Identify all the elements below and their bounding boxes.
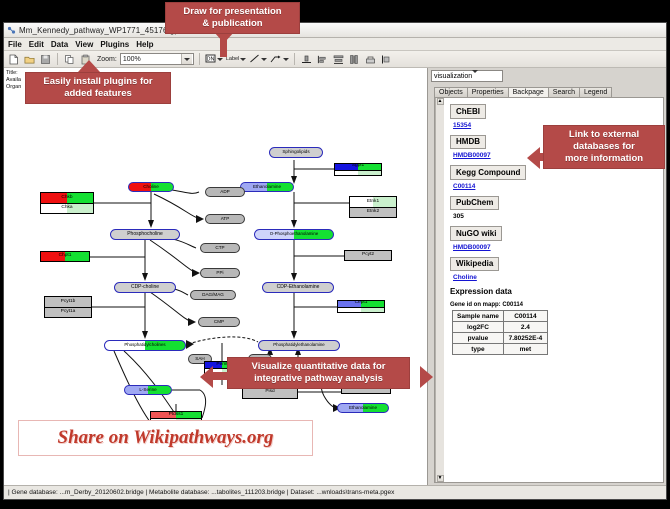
expression-table-value: 7.80252E-4 <box>503 333 547 344</box>
scroll-up-icon[interactable]: ▲ <box>437 98 444 105</box>
bring-to-front-icon[interactable] <box>380 53 393 66</box>
gene-box-label: Pcyt2 <box>362 253 374 258</box>
expression-table-key: pvalue <box>453 333 504 344</box>
screenshot-root: Mm_Kennedy_pathway_WP1771_45176.gpml Fil… <box>0 0 670 509</box>
pathway-node-label: CTP <box>215 246 224 251</box>
section-header-nugowiki: NuGO wiki <box>450 226 502 241</box>
pathway-node-label: Phosphatidylcholines <box>124 343 165 347</box>
pathway-node-label: Sphingolipids <box>282 150 309 155</box>
chevron-down-icon[interactable] <box>217 58 223 61</box>
pathway-node-metabolite[interactable]: DAG/MAG <box>190 290 236 300</box>
toolbar-separator-3 <box>294 53 295 65</box>
pathway-node-label: SAH <box>195 357 204 362</box>
gene-box-label: Pcyt1a <box>61 310 76 315</box>
toolbar-separator-1 <box>57 53 58 65</box>
section-header-kegg: Kegg Compound <box>450 165 526 180</box>
open-folder-icon[interactable] <box>23 53 36 66</box>
backpage-scrollbar[interactable]: ▲ ▼ <box>435 98 444 482</box>
expression-table-row: Sample nameC00114 <box>453 311 548 322</box>
section-header-pubchem: PubChem <box>450 196 499 211</box>
expression-table-row: typemet <box>453 344 548 355</box>
chevron-down-icon[interactable] <box>240 58 246 61</box>
callout-visualize-arrow-stem <box>211 372 231 380</box>
callout-link-line3: more information <box>549 153 659 165</box>
pathway-node-gene[interactable]: ChkbChka <box>40 192 94 214</box>
callout-visualize-line2: integrative pathway analysis <box>233 373 404 385</box>
toolbar-separator-2 <box>199 53 200 65</box>
gene-box-label: Chkb <box>61 196 72 201</box>
gene-box-label: Chpt1 <box>59 254 72 259</box>
pathway-node-label: CDP-Ethanolamine <box>277 285 320 290</box>
gene-box-row <box>338 307 384 313</box>
pathway-node-label: Ethanolamine <box>349 406 377 411</box>
callout-plugins-line2: added features <box>31 88 165 100</box>
gene-box-row: Pcyt1b <box>45 297 91 307</box>
zoom-value: 100% <box>123 56 141 63</box>
expression-table-row: log2FC2.4 <box>453 322 548 333</box>
pathway-node-label: Phosphatidylethanolamine <box>273 343 325 347</box>
label-tool-label: Label <box>226 56 239 62</box>
pathway-node-metabolite[interactable]: L-Serine <box>124 385 172 395</box>
pathway-node-metabolite[interactable]: CMP <box>198 317 240 327</box>
label-tool[interactable]: Label <box>226 56 246 62</box>
pathway-node-label: PPi <box>216 271 223 276</box>
pathway-node-metabolite[interactable]: CTP <box>200 243 240 253</box>
pathway-node-metabolite[interactable]: ATP <box>205 214 245 224</box>
chevron-down-icon[interactable] <box>472 73 478 80</box>
expression-table-value: met <box>503 344 547 355</box>
pathway-node-gene[interactable]: Sgpl1 <box>334 163 382 176</box>
datanode-icon: DN <box>205 53 216 66</box>
gene-box-label: Etnk1 <box>367 200 379 205</box>
pathway-node-gene[interactable]: Etnk1Etnk2 <box>349 196 397 218</box>
callout-draw-line1: Draw for presentation <box>171 6 294 18</box>
share-wikipathways-banner: Share on Wikipathways.org <box>18 420 313 456</box>
section-value-pubchem: 305 <box>453 213 659 220</box>
pathway-node-label: ADP <box>220 190 229 195</box>
section-link-nugowiki[interactable]: HMDB00097 <box>453 244 659 251</box>
pathway-node-metabolite[interactable]: ADP <box>205 187 245 197</box>
pathway-node-label: CMP <box>214 320 224 325</box>
expression-table: Sample nameC00114log2FC2.4pvalue7.80252E… <box>452 310 548 355</box>
gene-box-row: Pcyt2 <box>345 251 391 260</box>
gene-box-label: Pcyt1b <box>61 300 76 305</box>
pathway-node-label: Ethanolamine <box>253 185 281 190</box>
tab-legend[interactable]: Legend <box>579 87 612 97</box>
pathway-node-metabolite[interactable]: CDP-Ethanolamine <box>262 282 334 293</box>
pathway-node-gene[interactable]: Chpt1 <box>40 251 90 262</box>
pathway-node-label: CDP-choline <box>131 285 159 290</box>
section-link-kegg[interactable]: C00114 <box>453 183 659 190</box>
chevron-down-icon[interactable] <box>181 54 192 64</box>
section-header-wikipedia: Wikipedia <box>450 257 499 272</box>
new-file-icon[interactable] <box>7 53 20 66</box>
pathway-node-metabolite[interactable]: Phosphatidylcholines <box>104 340 186 351</box>
gene-box-row: Chpt1 <box>41 252 89 261</box>
callout-plugins-line1: Easily install plugins for <box>31 76 165 88</box>
scroll-down-icon[interactable]: ▼ <box>437 475 444 482</box>
tab-properties[interactable]: Properties <box>467 87 509 97</box>
expression-table-value: C00114 <box>503 311 547 322</box>
expression-table-key: type <box>453 344 504 355</box>
same-width-icon[interactable] <box>348 53 361 66</box>
gene-box-row: Chkb <box>41 193 93 203</box>
menu-item-help[interactable]: Help <box>136 40 153 49</box>
callout-visualize-data: Visualize quantitative data for integrat… <box>227 357 410 389</box>
pathway-node-metabolite[interactable]: CDP-choline <box>114 282 176 293</box>
callout-draw-line2: & publication <box>171 18 294 30</box>
menu-bar: File Edit Data View Plugins Help <box>4 38 666 51</box>
visualization-combobox[interactable]: visualization <box>431 70 503 82</box>
expression-data-title: Expression data <box>450 287 659 296</box>
pathway-node-metabolite[interactable]: Phosphocholine <box>110 229 180 240</box>
visualization-row: visualization <box>428 68 666 84</box>
pathway-node-metabolite[interactable]: Choline <box>128 182 174 192</box>
section-link-wikipedia[interactable]: Choline <box>453 274 659 281</box>
status-bar: | Gene database: ...m_Derby_20120602.bri… <box>4 485 666 499</box>
pathway-node-gene[interactable]: Pcyt1bPcyt1a <box>44 296 92 318</box>
expression-table-row: pvalue7.80252E-4 <box>453 333 548 344</box>
pathway-node-metabolite[interactable]: Ethanolamine <box>337 403 389 413</box>
callout-install-plugins: Easily install plugins for added feature… <box>25 72 171 104</box>
share-text: Share on Wikipathways.org <box>58 427 274 449</box>
gene-box-row: Etnk1 <box>350 197 396 207</box>
window-title: Mm_Kennedy_pathway_WP1771_45176.gpml <box>19 26 188 35</box>
gene-box-label: Chka <box>61 206 72 211</box>
align-left-icon[interactable] <box>316 53 329 66</box>
section-header-hmdb: HMDB <box>450 135 486 150</box>
section-header-chebi: ChEBI <box>450 104 486 119</box>
visualization-value: visualization <box>434 73 472 80</box>
menu-item-view[interactable]: View <box>75 40 93 49</box>
tool-bar: Zoom: 100% DN Label <box>4 51 666 68</box>
chevron-down-icon[interactable] <box>283 58 289 61</box>
gene-box-row <box>335 170 381 176</box>
pathway-node-label: ATP <box>221 217 230 222</box>
callout-link-line2: databases for <box>549 141 659 153</box>
callout-plugins-arrow-up-icon <box>78 60 100 72</box>
app-icon <box>7 26 16 35</box>
chevron-down-icon[interactable] <box>261 58 267 61</box>
status-text: | Gene database: ...m_Derby_20120602.bri… <box>8 489 394 496</box>
pathway-node-label: Phosphocholine <box>127 232 163 237</box>
copy-icon[interactable] <box>63 53 76 66</box>
menu-item-plugins[interactable]: Plugins <box>100 40 129 49</box>
zoom-combobox[interactable]: 100% <box>120 53 194 65</box>
pathway-node-label: O-Phosphoethanolamine <box>270 232 319 236</box>
callout-link-line1: Link to external <box>549 129 659 141</box>
gene-box-label: Cept1 <box>355 301 368 306</box>
gene-box-label: Pisd <box>265 390 274 395</box>
title-bar: Mm_Kennedy_pathway_WP1771_45176.gpml <box>4 23 666 38</box>
pathway-node-label: Choline <box>143 185 159 190</box>
pathway-node-metabolite[interactable]: Phosphatidylethanolamine <box>258 340 340 351</box>
pathway-node-label: DAG/MAG <box>202 293 224 298</box>
pathway-node-gene[interactable]: Cept1 <box>337 300 385 313</box>
callout-visualize-line1: Visualize quantitative data for <box>233 361 404 373</box>
svg-text:DN: DN <box>206 56 214 62</box>
interaction-tool[interactable] <box>270 53 289 66</box>
gene-box-row: Pcyt1a <box>45 307 91 317</box>
panel-tab-strip: Objects Properties Backpage Search Legen… <box>428 84 666 97</box>
gene-box-label: Ptdss1 <box>169 413 184 418</box>
tab-backpage[interactable]: Backpage <box>508 87 549 97</box>
tab-objects[interactable]: Objects <box>434 87 468 97</box>
pathway-node-gene[interactable]: Pcyt2 <box>344 250 392 261</box>
callout-visualize-arrow-right-icon <box>420 366 433 388</box>
distribute-vertical-icon[interactable] <box>332 53 345 66</box>
gene-box-label: Etnk2 <box>367 210 379 215</box>
menu-item-file[interactable]: File <box>8 40 22 49</box>
line-tool[interactable] <box>249 53 267 66</box>
expression-table-key: log2FC <box>453 322 504 333</box>
group-icon[interactable] <box>364 53 377 66</box>
save-disk-icon[interactable] <box>39 53 52 66</box>
gene-id-on-mapp: Gene id on mapp: C00114 <box>450 302 659 308</box>
pathway-node-metabolite[interactable]: Sphingolipids <box>269 147 323 158</box>
menu-item-edit[interactable]: Edit <box>29 40 44 49</box>
gene-box-row: Etnk2 <box>350 207 396 217</box>
tab-search[interactable]: Search <box>548 87 580 97</box>
callout-external-links: Link to external databases for more info… <box>543 125 665 169</box>
menu-item-data[interactable]: Data <box>51 40 68 49</box>
gene-box-label: Sgpl1 <box>352 164 364 169</box>
align-bottom-icon[interactable] <box>300 53 313 66</box>
callout-draw-for-publication: Draw for presentation & publication <box>165 2 300 34</box>
expression-table-key: Sample name <box>453 311 504 322</box>
callout-link-arrow-left-icon <box>527 147 540 169</box>
pathway-node-label: L-Serine <box>139 388 156 393</box>
line-icon <box>249 53 260 66</box>
pathway-node-metabolite[interactable]: PPi <box>200 268 240 278</box>
expression-table-value: 2.4 <box>503 322 547 333</box>
gene-box-row: Chka <box>41 203 93 213</box>
gene-box-label: Pemt <box>216 363 227 368</box>
pathway-node-metabolite[interactable]: O-Phosphoethanolamine <box>254 229 334 240</box>
interaction-icon <box>270 53 282 66</box>
pathway-node-metabolite[interactable]: Ethanolamine <box>240 182 294 192</box>
